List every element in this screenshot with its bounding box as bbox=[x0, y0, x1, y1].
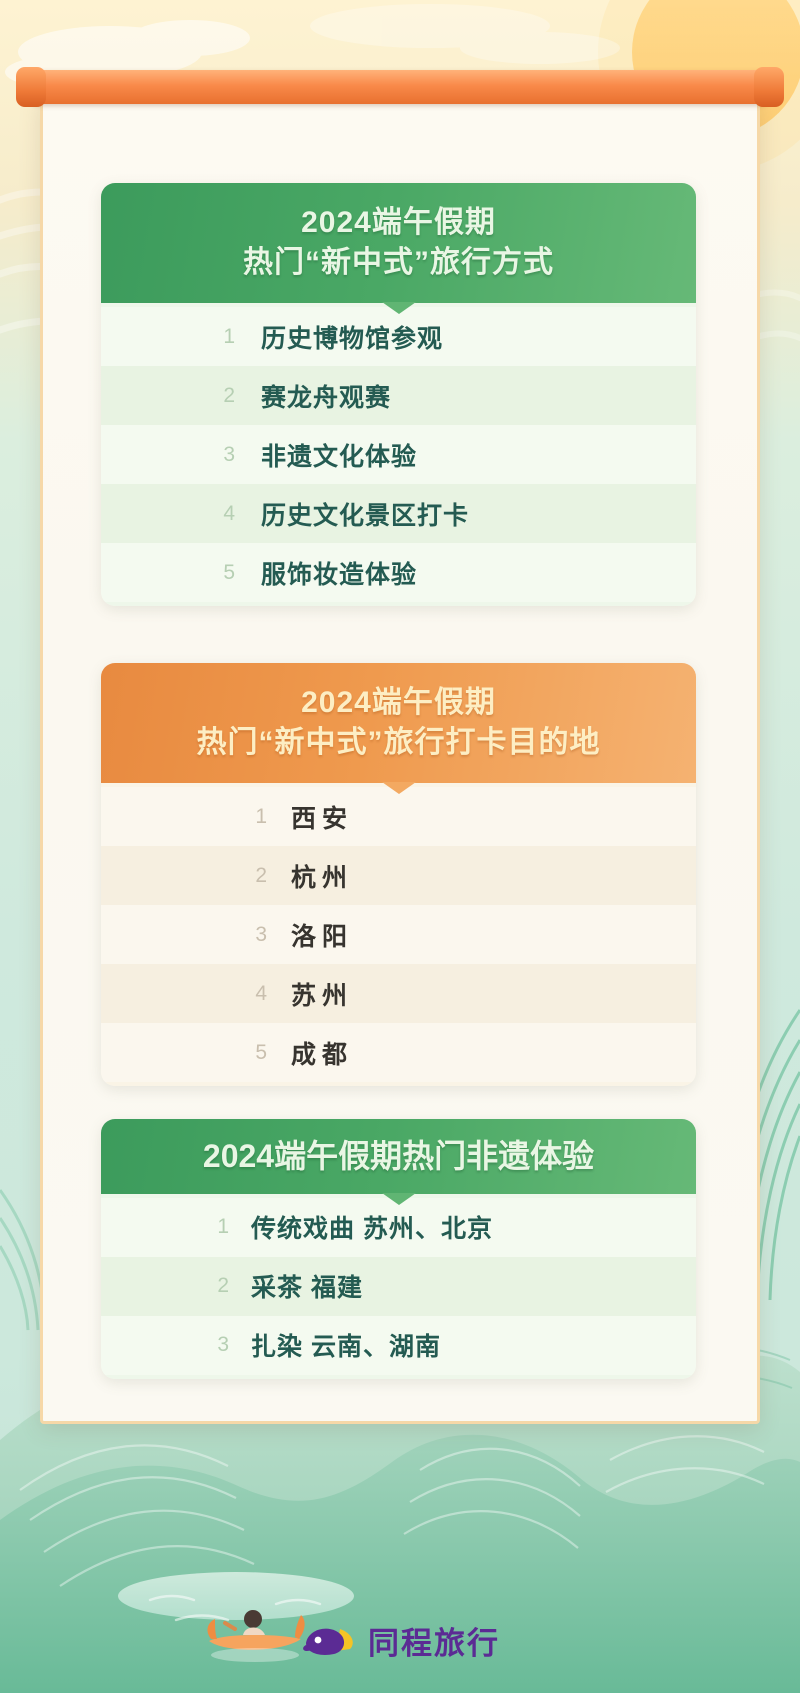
header-notch-icon bbox=[382, 302, 416, 314]
item-label: 成都 bbox=[291, 1035, 353, 1071]
rank-number: 1 bbox=[101, 325, 261, 349]
rank-number: 4 bbox=[101, 982, 291, 1006]
card-intangible-heritage-list: 1 传统戏曲 苏州、北京 2 采茶 福建 3 扎染 云南、湖南 bbox=[101, 1194, 696, 1379]
item-label: 杭州 bbox=[291, 858, 353, 894]
brand-name: 同程旅行 bbox=[368, 1618, 500, 1663]
list-item[interactable]: 5 成都 bbox=[101, 1023, 696, 1082]
rank-number: 5 bbox=[101, 561, 261, 585]
rank-number: 2 bbox=[101, 864, 291, 888]
header-notch-icon bbox=[382, 782, 416, 794]
bird-icon bbox=[300, 1623, 358, 1659]
scroll-rod-cap-right bbox=[754, 67, 784, 107]
scroll-rod-top bbox=[24, 70, 776, 104]
item-label: 扎染 云南、湖南 bbox=[251, 1327, 441, 1363]
list-item[interactable]: 3 洛阳 bbox=[101, 905, 696, 964]
list-item[interactable]: 2 采茶 福建 bbox=[101, 1257, 696, 1316]
rank-number: 5 bbox=[101, 1041, 291, 1065]
card-destinations-header: 2024端午假期 热门“新中式”旅行打卡目的地 bbox=[101, 663, 696, 783]
list-item[interactable]: 3 扎染 云南、湖南 bbox=[101, 1316, 696, 1375]
brand-footer: 同程旅行 bbox=[0, 1618, 800, 1663]
poster-paper: 2024端午假期 热门“新中式”旅行方式 1 历史博物馆参观 2 赛龙舟观赛 3… bbox=[40, 94, 760, 1424]
rank-number: 3 bbox=[101, 923, 291, 947]
card-destinations-title-line2: 热门“新中式”旅行打卡目的地 bbox=[111, 723, 686, 763]
list-item[interactable]: 3 非遗文化体验 bbox=[101, 425, 696, 484]
list-item[interactable]: 1 传统戏曲 苏州、北京 bbox=[101, 1198, 696, 1257]
item-label: 传统戏曲 苏州、北京 bbox=[251, 1209, 493, 1245]
rank-number: 3 bbox=[101, 443, 261, 467]
list-item[interactable]: 4 历史文化景区打卡 bbox=[101, 484, 696, 543]
list-item[interactable]: 4 苏州 bbox=[101, 964, 696, 1023]
card-travel-styles-title-line1: 2024端午假期 bbox=[111, 203, 686, 243]
rank-number: 3 bbox=[101, 1333, 251, 1357]
rank-number: 4 bbox=[101, 502, 261, 526]
card-travel-styles-list: 1 历史博物馆参观 2 赛龙舟观赛 3 非遗文化体验 4 历史文化景区打卡 5 bbox=[101, 303, 696, 606]
scroll-rod-cap-left bbox=[16, 67, 46, 107]
list-item[interactable]: 2 赛龙舟观赛 bbox=[101, 366, 696, 425]
card-destinations-title-line1: 2024端午假期 bbox=[111, 683, 686, 723]
list-item[interactable]: 1 历史博物馆参观 bbox=[101, 307, 696, 366]
header-notch-icon bbox=[382, 1193, 416, 1205]
card-destinations-list: 1 西安 2 杭州 3 洛阳 4 苏州 5 成都 bbox=[101, 783, 696, 1086]
rank-number: 2 bbox=[101, 1274, 251, 1298]
rank-number: 1 bbox=[101, 1215, 251, 1239]
scroll-poster: 2024端午假期 热门“新中式”旅行方式 1 历史博物馆参观 2 赛龙舟观赛 3… bbox=[40, 70, 760, 1440]
rank-number: 2 bbox=[101, 384, 261, 408]
list-item[interactable]: 5 服饰妆造体验 bbox=[101, 543, 696, 602]
item-label: 洛阳 bbox=[291, 917, 353, 953]
card-intangible-heritage-header: 2024端午假期热门非遗体验 bbox=[101, 1119, 696, 1194]
card-travel-styles-header: 2024端午假期 热门“新中式”旅行方式 bbox=[101, 183, 696, 303]
card-intangible-heritage: 2024端午假期热门非遗体验 1 传统戏曲 苏州、北京 2 采茶 福建 3 扎染… bbox=[101, 1119, 696, 1379]
rank-number: 1 bbox=[101, 805, 291, 829]
item-label: 服饰妆造体验 bbox=[261, 555, 417, 591]
card-destinations: 2024端午假期 热门“新中式”旅行打卡目的地 1 西安 2 杭州 3 洛阳 bbox=[101, 663, 696, 1086]
card-travel-styles-title-line2: 热门“新中式”旅行方式 bbox=[111, 243, 686, 283]
list-item[interactable]: 1 西安 bbox=[101, 787, 696, 846]
item-label: 西安 bbox=[291, 799, 353, 835]
card-intangible-heritage-title: 2024端午假期热门非遗体验 bbox=[111, 1135, 686, 1178]
item-label: 苏州 bbox=[291, 976, 353, 1012]
card-travel-styles: 2024端午假期 热门“新中式”旅行方式 1 历史博物馆参观 2 赛龙舟观赛 3… bbox=[101, 183, 696, 606]
item-label: 采茶 福建 bbox=[251, 1268, 363, 1304]
item-label: 赛龙舟观赛 bbox=[261, 378, 391, 414]
item-label: 非遗文化体验 bbox=[261, 437, 417, 473]
list-item[interactable]: 2 杭州 bbox=[101, 846, 696, 905]
item-label: 历史博物馆参观 bbox=[261, 319, 443, 355]
item-label: 历史文化景区打卡 bbox=[261, 496, 469, 532]
